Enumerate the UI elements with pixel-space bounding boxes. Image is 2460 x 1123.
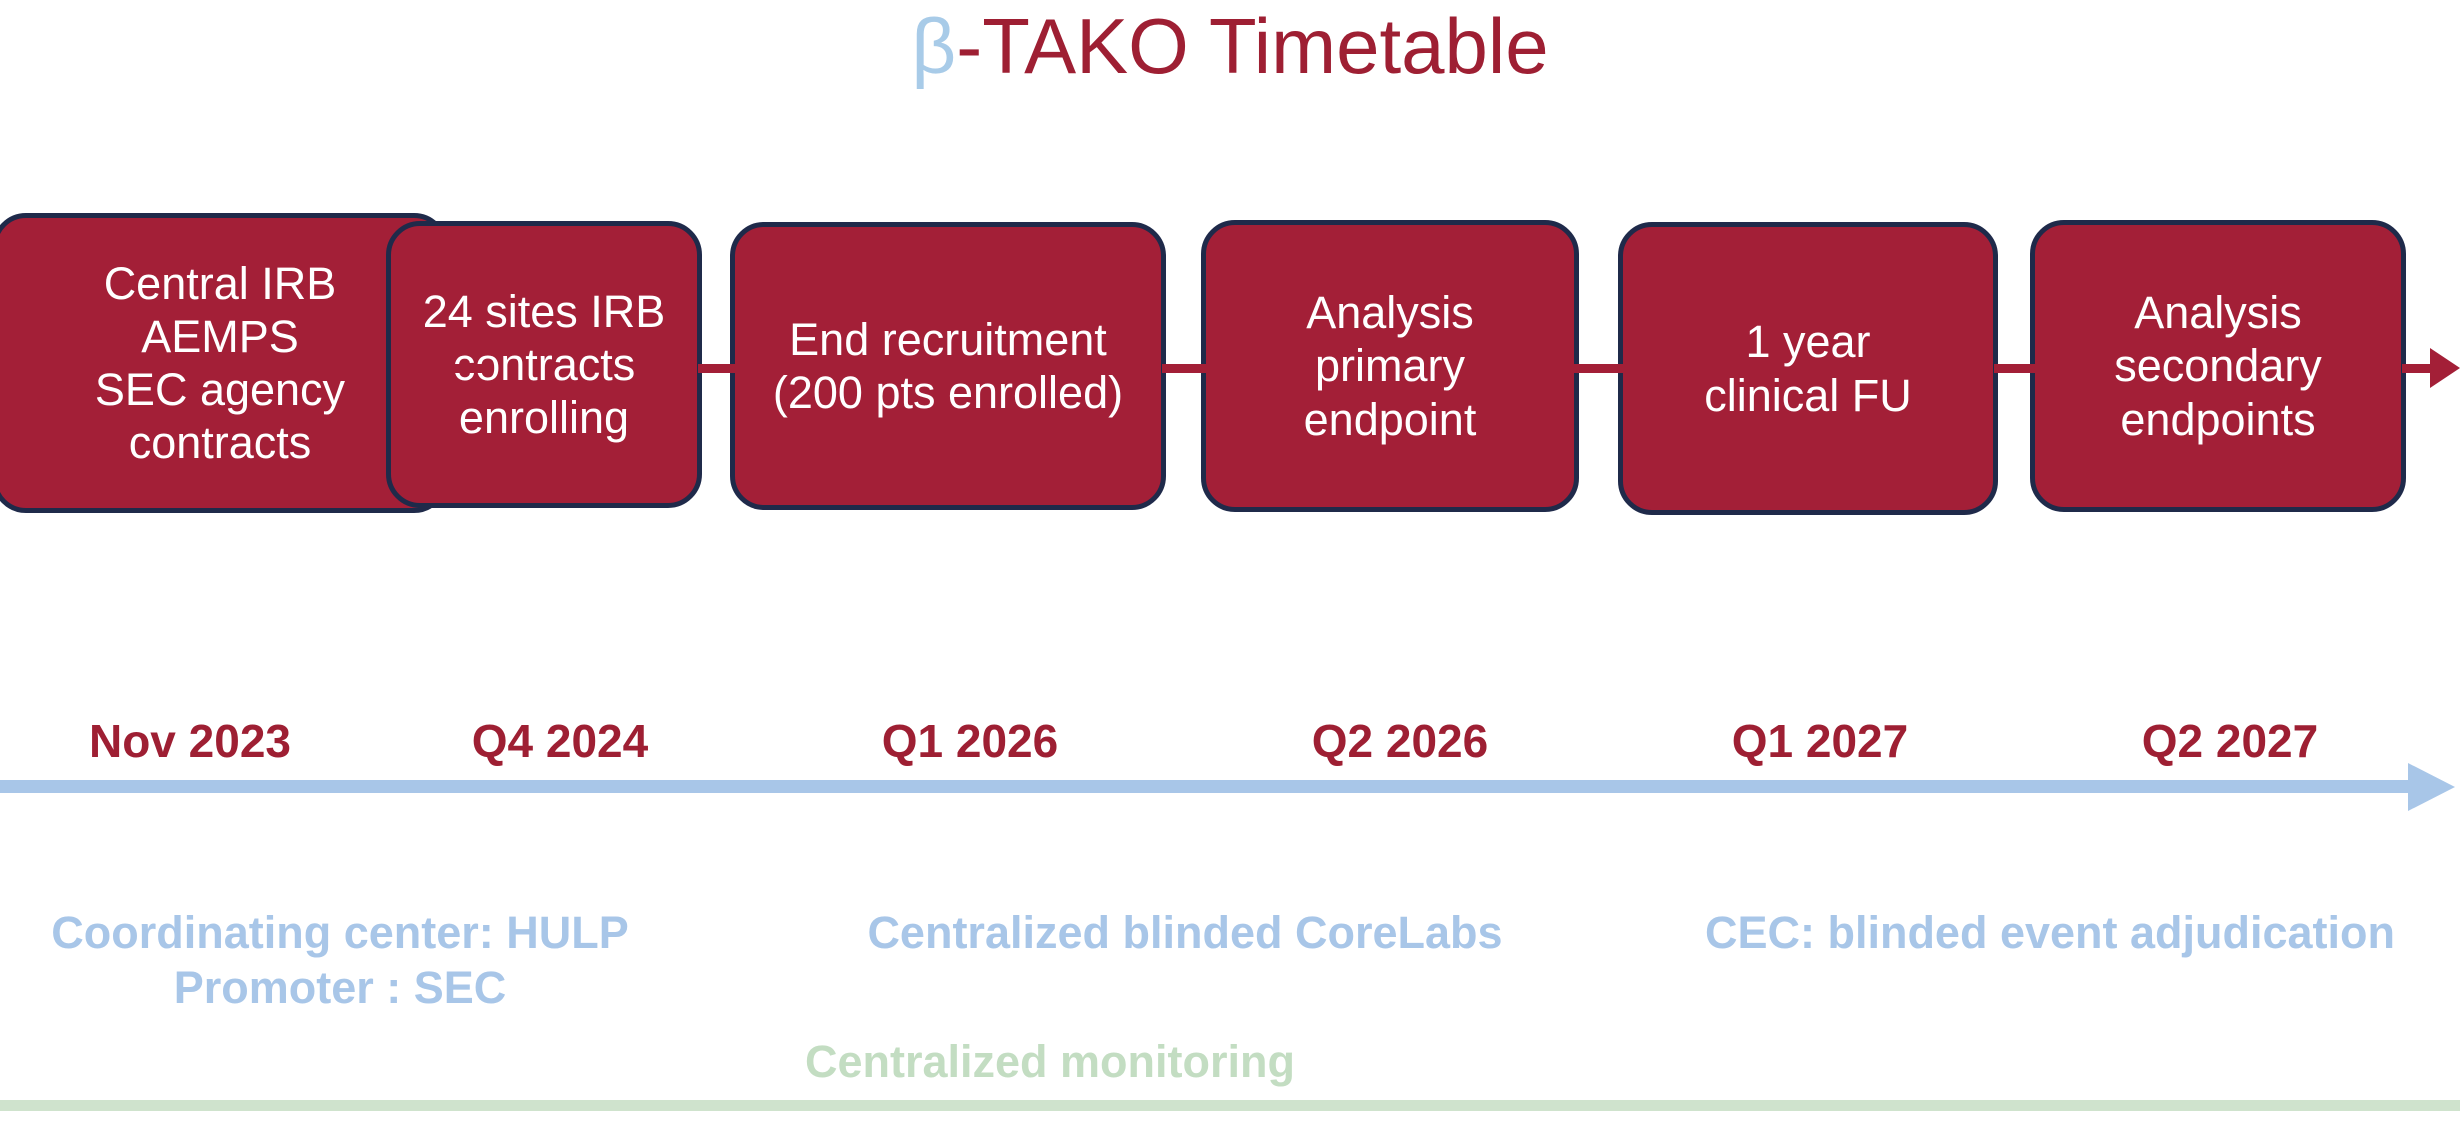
milestone-box-end-recruitment[interactable]: End recruitment (200 pts enrolled) bbox=[730, 222, 1166, 510]
connector-3-4 bbox=[1162, 364, 1206, 373]
milestone-box-analysis-primary[interactable]: Analysis primary endpoint bbox=[1201, 220, 1579, 512]
role-label-coordinating-center: Coordinating center: HULP Promoter : SEC bbox=[0, 906, 680, 1016]
milestone-box-clinical-fu[interactable]: 1 year clinical FU bbox=[1618, 222, 1998, 515]
milestone-label: Central IRB AEMPS SEC agency contracts bbox=[95, 257, 345, 469]
connector-1-2 bbox=[446, 364, 490, 373]
date-label-sites-contracts: Q4 2024 bbox=[370, 714, 750, 768]
milestone-label: Analysis primary endpoint bbox=[1304, 286, 1477, 445]
milestone-label: 1 year clinical FU bbox=[1704, 315, 1912, 421]
connector-4-5 bbox=[1574, 364, 1624, 373]
timeline-arrow-line bbox=[0, 780, 2412, 793]
date-label-analysis-secondary: Q2 2027 bbox=[2040, 714, 2420, 768]
milestone-box-analysis-secondary[interactable]: Analysis secondary endpoints bbox=[2030, 220, 2406, 512]
milestone-label: End recruitment (200 pts enrolled) bbox=[773, 313, 1123, 419]
milestone-box-sites-contracts[interactable]: 24 sites IRB contracts enrolling bbox=[386, 221, 702, 508]
timeline-arrow-head-icon bbox=[2408, 763, 2455, 811]
milestone-box-central-irb[interactable]: Central IRB AEMPS SEC agency contracts bbox=[0, 213, 448, 513]
role-label-core-labs: Centralized blinded CoreLabs bbox=[790, 906, 1580, 961]
connector-5-6 bbox=[1994, 364, 2036, 373]
connector-end-arrow-icon bbox=[2430, 348, 2460, 388]
monitoring-line bbox=[0, 1100, 2460, 1111]
date-label-central-irb: Nov 2023 bbox=[0, 714, 380, 768]
milestone-label: Analysis secondary endpoints bbox=[2114, 286, 2322, 445]
connector-2-3 bbox=[698, 364, 736, 373]
date-label-analysis-primary: Q2 2026 bbox=[1210, 714, 1590, 768]
date-label-end-recruitment: Q1 2026 bbox=[780, 714, 1160, 768]
monitoring-label: Centralized monitoring bbox=[0, 1036, 2100, 1088]
date-label-clinical-fu: Q1 2027 bbox=[1630, 714, 2010, 768]
role-label-cec: CEC: blinded event adjudication bbox=[1640, 906, 2460, 961]
